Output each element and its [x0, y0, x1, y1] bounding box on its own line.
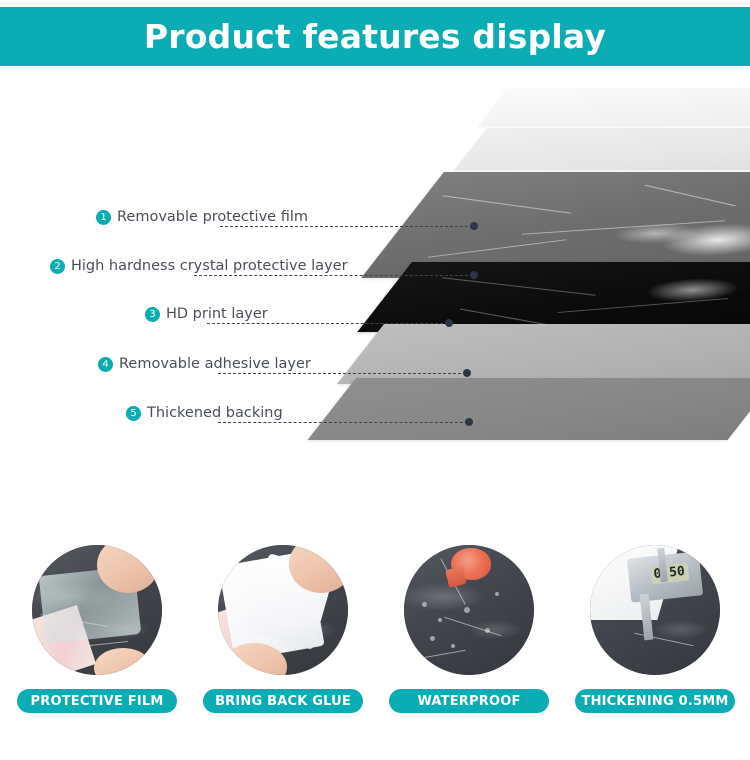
callout-endpoint-dot-2: [470, 271, 478, 279]
callout-label-1: Removable protective film: [117, 209, 308, 225]
callout-row-4: 4 Removable adhesive layer: [98, 353, 311, 375]
callout-label-5: Thickened backing: [147, 405, 283, 421]
callout-leader-line-2: [194, 275, 473, 277]
callout-row-5: 5 Thickened backing: [126, 402, 283, 424]
feature-item-waterproof: WATERPROOF: [376, 540, 562, 713]
feature-item-bring-back-glue: BRING BACK GLUE: [190, 540, 376, 713]
callout-label-4: Removable adhesive layer: [119, 356, 311, 372]
feature-item-protective-film: PROTECTIVE FILM: [4, 540, 190, 713]
feature-caption-thickening: THICKENING 0.5MM: [575, 689, 735, 713]
feature-photo-bring-back-glue: [218, 545, 348, 675]
feature-item-thickening: 0.50 THICKENING 0.5MM: [562, 540, 748, 713]
callout-endpoint-dot-5: [465, 418, 473, 426]
feature-caption-waterproof: WATERPROOF: [389, 689, 549, 713]
callout-badge-5: 5: [126, 406, 141, 421]
water-droplet: [495, 592, 499, 596]
callout-row-3: 3 HD print layer: [145, 303, 268, 325]
callout-row-2: 2 High hardness crystal protective layer: [50, 255, 348, 277]
callout-badge-2: 2: [50, 259, 65, 274]
feature-photo-protective-film: [32, 545, 162, 675]
water-droplet: [485, 628, 490, 633]
callout-label-2: High hardness crystal protective layer: [71, 258, 348, 274]
callout-endpoint-dot-3: [445, 319, 453, 327]
callout-group: 1 Removable protective film 2 High hardn…: [0, 66, 750, 516]
callout-leader-line-1: [220, 226, 473, 228]
callout-leader-line-5: [218, 422, 468, 424]
feature-caption-protective-film: PROTECTIVE FILM: [17, 689, 177, 713]
caliper-reading: 0.50: [649, 563, 689, 585]
callout-label-3: HD print layer: [166, 306, 268, 322]
water-droplet: [438, 618, 442, 622]
callout-badge-4: 4: [98, 357, 113, 372]
callout-leader-line-4: [218, 373, 466, 375]
callout-badge-3: 3: [145, 307, 160, 322]
callout-row-1: 1 Removable protective film: [96, 206, 308, 228]
feature-caption-bring-back-glue: BRING BACK GLUE: [203, 689, 363, 713]
feature-thumbnail-strip: PROTECTIVE FILM BRING BACK GLUE: [0, 540, 750, 760]
feature-photo-waterproof: [404, 545, 534, 675]
callout-badge-1: 1: [96, 210, 111, 225]
header-banner: Product features display: [0, 7, 750, 66]
feature-photo-thickening: 0.50: [590, 545, 720, 675]
page-title: Product features display: [144, 17, 606, 56]
callout-endpoint-dot-4: [463, 369, 471, 377]
water-droplet: [430, 636, 435, 641]
callout-endpoint-dot-1: [470, 222, 478, 230]
product-feature-page: Product features display 1 Removable pro…: [0, 0, 750, 760]
callout-leader-line-3: [207, 323, 448, 325]
water-droplet: [451, 644, 455, 648]
